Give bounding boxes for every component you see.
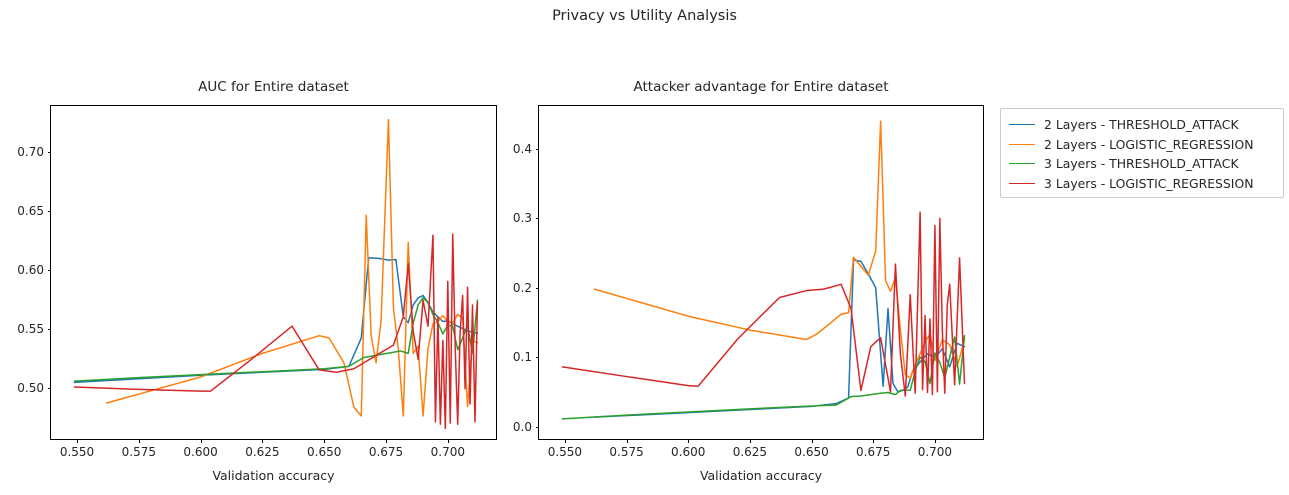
y-tick-label: 0.0: [487, 420, 532, 434]
axes-auc-lines: [51, 106, 496, 439]
y-tickmark: [536, 427, 540, 428]
x-tick-label: 0.625: [733, 445, 767, 459]
figure-suptitle: Privacy vs Utility Analysis: [0, 8, 1289, 24]
y-tick-label: 0.2: [487, 281, 532, 295]
x-tickmark: [688, 439, 689, 443]
y-tick-label: 0.65: [0, 204, 44, 218]
series-line-1: [595, 121, 965, 378]
axes-auc: AUC for Entire dataset Validation accura…: [50, 105, 497, 440]
x-tick-label: 0.650: [794, 445, 828, 459]
y-tickmark: [536, 149, 540, 150]
y-tickmark: [48, 211, 52, 212]
axes-auc-title: AUC for Entire dataset: [51, 79, 496, 95]
y-tick-label: 0.55: [0, 322, 44, 336]
x-tick-label: 0.550: [60, 445, 94, 459]
y-tick-label: 0.3: [487, 211, 532, 225]
legend-item-1[interactable]: 2 Layers - LOGISTIC_REGRESSION: [1009, 135, 1275, 155]
legend-swatch-icon: [1009, 124, 1035, 125]
legend-item-3[interactable]: 3 Layers - LOGISTIC_REGRESSION: [1009, 174, 1275, 194]
x-tick-label: 0.600: [183, 445, 217, 459]
series-line-2: [562, 336, 964, 419]
x-tickmark: [262, 439, 263, 443]
legend-swatch-icon: [1009, 183, 1035, 184]
series-line-0: [74, 258, 477, 383]
x-tickmark: [201, 439, 202, 443]
x-tickmark: [812, 439, 813, 443]
x-tick-label: 0.700: [431, 445, 465, 459]
legend-item-2[interactable]: 3 Layers - THRESHOLD_ATTACK: [1009, 154, 1275, 174]
y-tickmark: [48, 152, 52, 153]
series-line-3: [74, 234, 477, 428]
legend-item-label: 2 Layers - LOGISTIC_REGRESSION: [1044, 137, 1253, 152]
x-tick-label: 0.675: [369, 445, 403, 459]
x-tick-label: 0.575: [122, 445, 156, 459]
x-tick-label: 0.625: [245, 445, 279, 459]
y-tick-label: 0.4: [487, 142, 532, 156]
y-tickmark: [48, 270, 52, 271]
x-tick-label: 0.675: [856, 445, 890, 459]
x-tickmark: [750, 439, 751, 443]
y-tickmark: [48, 329, 52, 330]
legend-item-0[interactable]: 2 Layers - THRESHOLD_ATTACK: [1009, 115, 1275, 135]
y-tick-label: 0.50: [0, 381, 44, 395]
axes-attacker-advantage-title: Attacker advantage for Entire dataset: [539, 79, 983, 95]
axes-attacker-advantage: Attacker advantage for Entire dataset Va…: [538, 105, 984, 440]
legend-item-label: 3 Layers - THRESHOLD_ATTACK: [1044, 156, 1239, 171]
series-line-0: [595, 260, 965, 417]
x-tick-label: 0.575: [609, 445, 643, 459]
x-tickmark: [324, 439, 325, 443]
y-tickmark: [536, 357, 540, 358]
legend-item-label: 3 Layers - LOGISTIC_REGRESSION: [1044, 176, 1253, 191]
y-tickmark: [536, 218, 540, 219]
x-tick-label: 0.650: [307, 445, 341, 459]
axes-auc-xlabel: Validation accuracy: [51, 468, 496, 483]
axes-attacker-advantage-lines: [539, 106, 983, 439]
x-tickmark: [935, 439, 936, 443]
legend-item-label: 2 Layers - THRESHOLD_ATTACK: [1044, 117, 1239, 132]
legend-swatch-icon: [1009, 163, 1035, 164]
legend-swatch-icon: [1009, 144, 1035, 145]
x-tickmark: [448, 439, 449, 443]
x-tickmark: [627, 439, 628, 443]
x-tickmark: [565, 439, 566, 443]
y-tickmark: [536, 288, 540, 289]
y-tick-label: 0.1: [487, 350, 532, 364]
x-tickmark: [386, 439, 387, 443]
axes-attacker-advantage-xlabel: Validation accuracy: [539, 468, 983, 483]
y-tick-label: 0.60: [0, 263, 44, 277]
x-tick-label: 0.700: [918, 445, 952, 459]
x-tick-label: 0.550: [548, 445, 582, 459]
x-tickmark: [139, 439, 140, 443]
x-tickmark: [873, 439, 874, 443]
x-tickmark: [77, 439, 78, 443]
legend: 2 Layers - THRESHOLD_ATTACK2 Layers - LO…: [1000, 108, 1284, 198]
y-tickmark: [48, 388, 52, 389]
y-tick-label: 0.70: [0, 145, 44, 159]
x-tick-label: 0.600: [671, 445, 705, 459]
figure-canvas: Privacy vs Utility Analysis AUC for Enti…: [0, 0, 1289, 495]
